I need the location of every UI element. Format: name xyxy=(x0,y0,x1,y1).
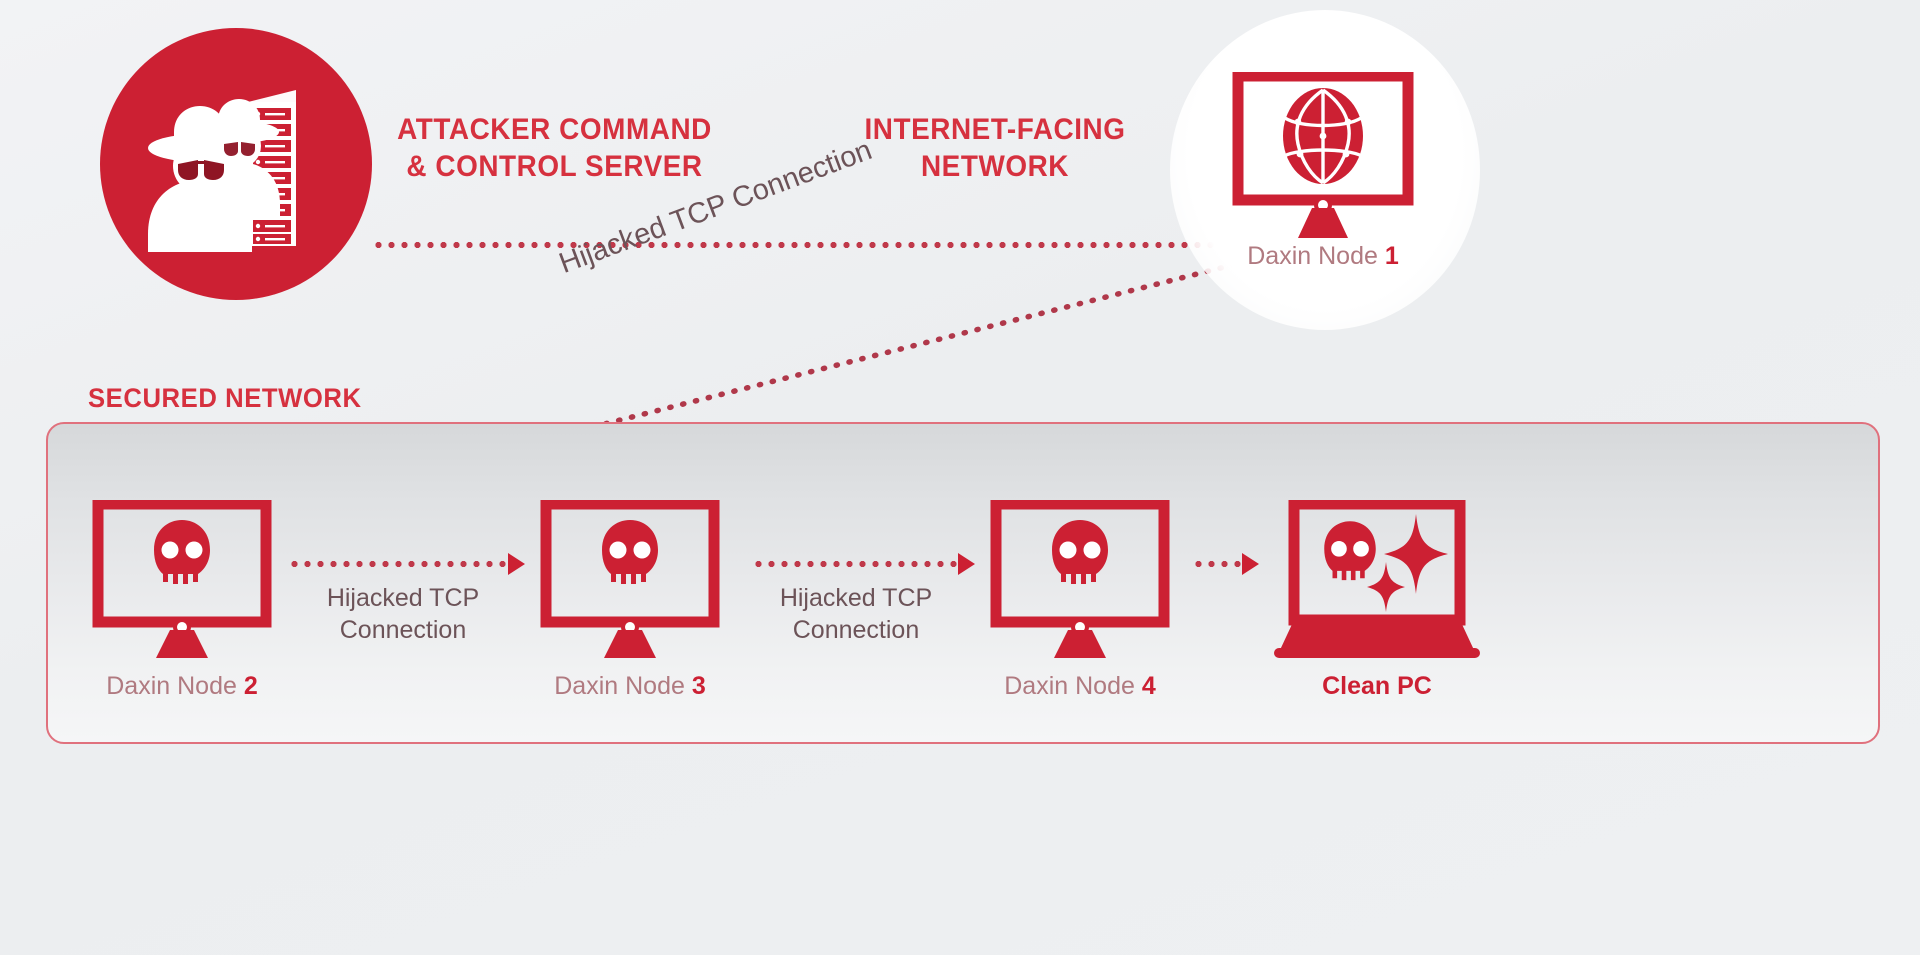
node-clean-pc: Clean PC xyxy=(1268,500,1486,701)
connection-node3-to-node4 xyxy=(752,561,960,567)
node2-label-text: Daxin Node xyxy=(106,672,244,700)
node-daxin-node-3: Daxin Node 3 xyxy=(540,500,720,701)
node4-label-text: Daxin Node xyxy=(1004,672,1142,700)
connection-node2-to-node3 xyxy=(288,561,510,567)
attacker-c2-circle xyxy=(100,28,372,300)
node4-label-number: 4 xyxy=(1142,672,1156,700)
heading-secured-network: SECURED NETWORK xyxy=(88,382,487,415)
heading-attacker-c2: ATTACKER COMMAND & CONTROL SERVER xyxy=(394,112,715,185)
diagram-canvas: ATTACKER COMMAND & CONTROL SERVER INTERN… xyxy=(0,0,1920,955)
label-2-3-line2: Connection xyxy=(340,616,466,644)
skull-sparkle-laptop-icon xyxy=(1268,500,1486,660)
node-daxin-node-2: Daxin Node 2 xyxy=(92,500,272,701)
label-3-4-line1: Hijacked TCP xyxy=(780,584,932,612)
arrowhead-node4-to-cleanpc xyxy=(1242,553,1259,575)
node3-label-text: Daxin Node xyxy=(554,672,692,700)
node-daxin-node-3-label: Daxin Node 3 xyxy=(554,672,705,701)
label-2-3-line1: Hijacked TCP xyxy=(327,584,479,612)
node-daxin-node-4-label: Daxin Node 4 xyxy=(1004,672,1155,701)
node1-label-text: Daxin Node xyxy=(1247,242,1385,270)
skull-monitor-icon xyxy=(990,500,1170,660)
arrowhead-node3-to-node4 xyxy=(958,553,975,575)
node1-label-number: 1 xyxy=(1385,242,1399,270)
heading-internet-line1: INTERNET-FACING xyxy=(864,113,1125,146)
node-daxin-node-4: Daxin Node 4 xyxy=(990,500,1170,701)
node-daxin-node-1-label: Daxin Node 1 xyxy=(1247,242,1398,271)
node2-label-number: 2 xyxy=(244,672,258,700)
heading-internet-facing-network: INTERNET-FACING NETWORK xyxy=(856,112,1135,185)
heading-internet-line2: NETWORK xyxy=(921,150,1069,183)
connection-node4-to-cleanpc xyxy=(1192,561,1244,567)
skull-monitor-icon xyxy=(92,500,272,660)
label-3-4-line2: Connection xyxy=(793,616,919,644)
label-hijacked-tcp-3-4: Hijacked TCP Connection xyxy=(748,582,964,646)
heading-c2-line2: & CONTROL SERVER xyxy=(406,150,702,183)
heading-c2-line1: ATTACKER COMMAND xyxy=(397,113,712,146)
skull-monitor-icon xyxy=(540,500,720,660)
label-hijacked-tcp-2-3: Hijacked TCP Connection xyxy=(292,582,514,646)
attacker-spy-server-icon xyxy=(100,28,372,300)
node3-label-number: 3 xyxy=(692,672,706,700)
node-daxin-node-2-label: Daxin Node 2 xyxy=(106,672,257,701)
globe-monitor-icon xyxy=(1228,72,1418,242)
node-clean-pc-label: Clean PC xyxy=(1322,672,1432,701)
node-daxin-node-1: Daxin Node 1 xyxy=(1223,72,1423,302)
arrowhead-node2-to-node3 xyxy=(508,553,525,575)
